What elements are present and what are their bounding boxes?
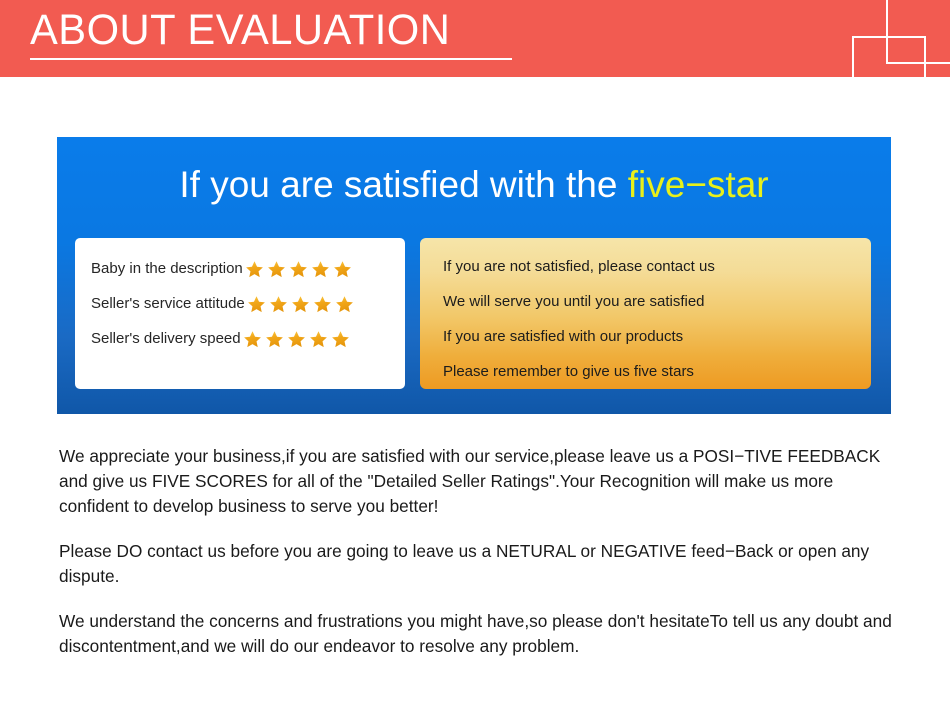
decorative-square-icon bbox=[886, 0, 950, 64]
rating-label: Seller's service attitude bbox=[91, 294, 245, 314]
policy-text-block: We appreciate your business,if you are s… bbox=[59, 444, 917, 659]
star-icon bbox=[245, 260, 264, 279]
star-icon bbox=[311, 260, 330, 279]
contact-line: We will serve you until you are satisfie… bbox=[443, 292, 705, 312]
seller-ratings-card: Baby in the description Seller's service… bbox=[75, 238, 405, 389]
policy-paragraph: We understand the concerns and frustrati… bbox=[59, 609, 904, 659]
contact-line: If you are satisfied with our products bbox=[443, 327, 683, 347]
star-icon bbox=[243, 330, 262, 349]
star-icon bbox=[313, 295, 332, 314]
banner-heading-accent: five−star bbox=[628, 164, 769, 205]
star-icon bbox=[291, 295, 310, 314]
contact-line: Please remember to give us five stars bbox=[443, 362, 694, 382]
rating-row: Seller's service attitude bbox=[91, 294, 357, 314]
banner-heading: If you are satisfied with the five−star bbox=[57, 162, 891, 208]
rating-stars bbox=[243, 330, 353, 349]
star-icon bbox=[331, 330, 350, 349]
rating-label: Baby in the description bbox=[91, 259, 243, 279]
star-icon bbox=[289, 260, 308, 279]
star-icon bbox=[267, 260, 286, 279]
rating-row: Baby in the description bbox=[91, 259, 355, 279]
star-icon bbox=[335, 295, 354, 314]
title-underline bbox=[30, 58, 512, 60]
satisfaction-banner: If you are satisfied with the five−star … bbox=[57, 137, 891, 414]
star-icon bbox=[269, 295, 288, 314]
contact-us-card: If you are not satisfied, please contact… bbox=[420, 238, 871, 389]
rating-row: Seller's delivery speed bbox=[91, 329, 353, 349]
star-icon bbox=[287, 330, 306, 349]
rating-label: Seller's delivery speed bbox=[91, 329, 241, 349]
star-icon bbox=[333, 260, 352, 279]
page-header: ABOUT EVALUATION bbox=[0, 0, 950, 77]
star-icon bbox=[309, 330, 328, 349]
rating-stars bbox=[245, 260, 355, 279]
star-icon bbox=[247, 295, 266, 314]
policy-paragraph: Please DO contact us before you are goin… bbox=[59, 539, 904, 589]
about-evaluation-page: ABOUT EVALUATION If you are satisfied wi… bbox=[0, 0, 950, 724]
rating-stars bbox=[247, 295, 357, 314]
banner-heading-prefix: If you are satisfied with the bbox=[179, 164, 627, 205]
star-icon bbox=[265, 330, 284, 349]
policy-paragraph: We appreciate your business,if you are s… bbox=[59, 444, 904, 519]
page-title: ABOUT EVALUATION bbox=[30, 6, 450, 54]
contact-line: If you are not satisfied, please contact… bbox=[443, 257, 715, 277]
